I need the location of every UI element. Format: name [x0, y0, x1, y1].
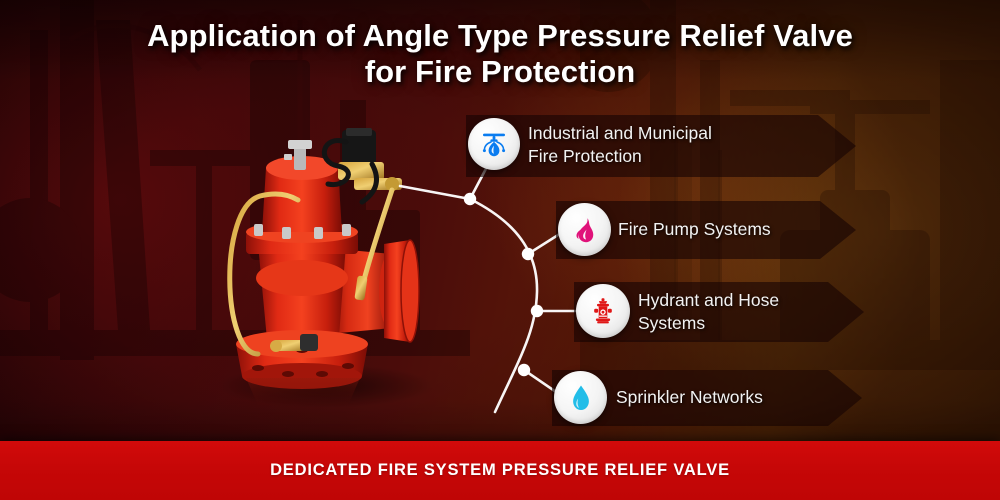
item-label-2: Fire Pump Systems [618, 218, 848, 241]
flame-icon [570, 215, 600, 245]
product-image-pressure-relief-valve [196, 128, 476, 418]
application-item-3[interactable]: Hydrant and Hose Systems [574, 282, 864, 342]
page-title-line-2: for Fire Protection [60, 54, 940, 90]
page-title-line-1: Application of Angle Type Pressure Relie… [147, 18, 853, 53]
infographic-canvas: Application of Angle Type Pressure Relie… [0, 0, 1000, 500]
application-item-1[interactable]: Industrial and Municipal Fire Protection [466, 115, 856, 177]
item-icon-circle-3[interactable] [576, 284, 630, 338]
application-item-2[interactable]: Fire Pump Systems [556, 201, 856, 259]
water-droplet-icon [566, 383, 596, 413]
item-icon-circle-2[interactable] [558, 203, 611, 256]
deluge-sprinkler-fire-icon [478, 128, 510, 160]
item-icon-circle-4[interactable] [554, 371, 607, 424]
item-icon-circle-1[interactable] [468, 118, 520, 170]
footer-banner: DEDICATED FIRE SYSTEM PRESSURE RELIEF VA… [0, 441, 1000, 500]
page-title: Application of Angle Type Pressure Relie… [0, 18, 1000, 91]
footer-banner-text: DEDICATED FIRE SYSTEM PRESSURE RELIEF VA… [270, 461, 730, 480]
item-label-4: Sprinkler Networks [616, 386, 856, 409]
fire-hydrant-icon [588, 296, 618, 326]
application-item-4[interactable]: Sprinkler Networks [552, 370, 862, 426]
item-label-3: Hydrant and Hose Systems [638, 289, 858, 336]
item-label-1: Industrial and Municipal Fire Protection [528, 122, 828, 169]
